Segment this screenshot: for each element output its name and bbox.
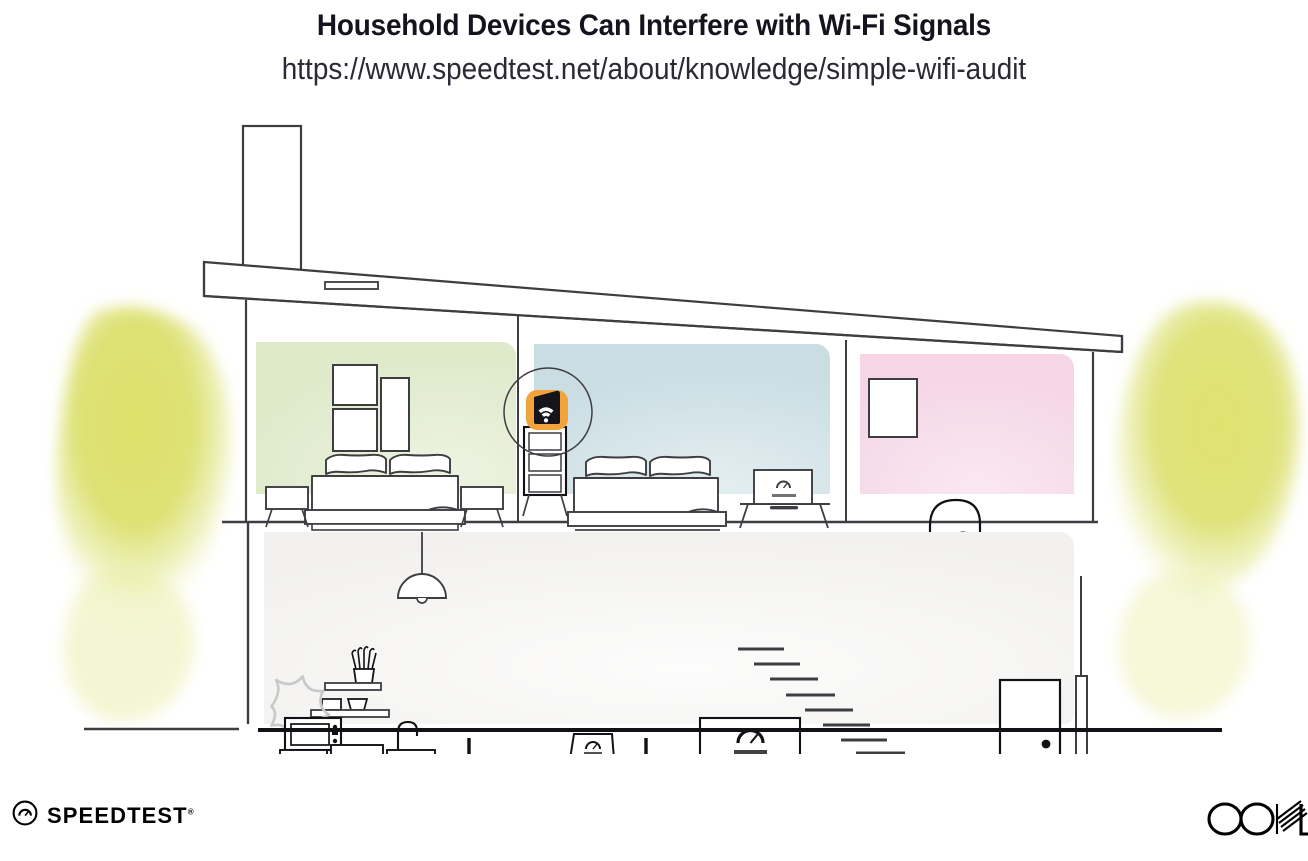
dining-chair-left — [469, 738, 503, 754]
chimney — [243, 126, 301, 278]
trademark-symbol: ® — [188, 807, 195, 816]
infographic-header: Household Devices Can Interfere with Wi-… — [0, 0, 1308, 87]
speedometer-gauge-icon — [12, 800, 38, 831]
monitor-speedtest — [754, 470, 812, 509]
infographic-footer: SPEEDTEST® — [0, 786, 1308, 861]
ookla-logo[interactable] — [1205, 796, 1308, 842]
laptop-speedtest — [563, 734, 621, 754]
front-door[interactable] — [1000, 680, 1060, 754]
nursery-picture-frame — [869, 379, 917, 437]
page-title: Household Devices Can Interfere with Wi-… — [46, 0, 1262, 43]
dining-chair-right — [613, 738, 647, 754]
sidelight-window — [1076, 576, 1087, 754]
roof-slab — [204, 262, 1122, 352]
wifi-router — [526, 390, 568, 430]
speedtest-wordmark-text: SPEEDTEST — [47, 803, 188, 828]
bed — [305, 455, 465, 530]
green-bedroom — [250, 342, 516, 530]
tree-foliage-left — [57, 307, 232, 722]
kitchen-sink — [398, 722, 417, 750]
speedtest-wordmark: SPEEDTEST® — [47, 803, 195, 829]
dresser — [523, 427, 567, 516]
speedtest-logo[interactable]: SPEEDTEST® — [12, 800, 195, 831]
house-cutaway-wifi-interference-illustration — [0, 104, 1308, 754]
wall-art-frames — [333, 365, 409, 451]
television-speedtest — [700, 718, 800, 754]
door-knob-icon[interactable] — [1042, 740, 1051, 749]
tree-foliage-right — [1116, 301, 1300, 718]
blue-bedroom — [504, 344, 836, 530]
source-url: https://www.speedtest.net/about/knowledg… — [65, 43, 1242, 87]
ground-line — [84, 729, 1222, 730]
